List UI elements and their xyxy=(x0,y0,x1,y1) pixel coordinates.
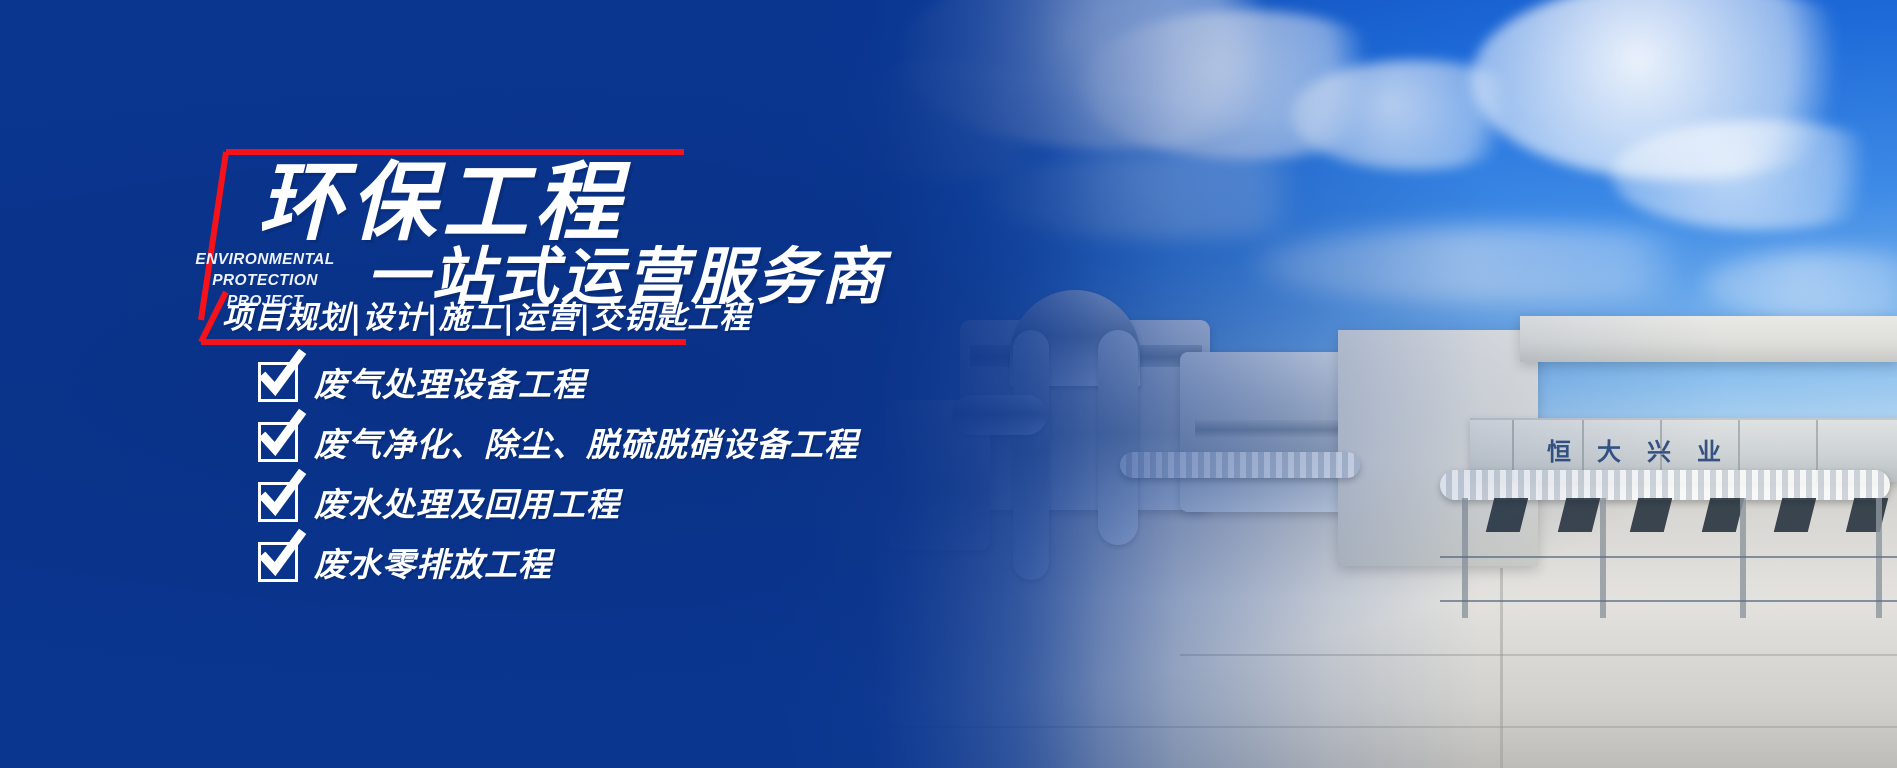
list-item: 废水零排放工程 xyxy=(258,538,858,586)
list-item: 废气处理设备工程 xyxy=(258,358,858,406)
checkmark-icon xyxy=(258,362,298,402)
list-item-label: 废水处理及回用工程 xyxy=(314,478,620,526)
checkmark-icon xyxy=(258,422,298,462)
checkmark-icon xyxy=(258,482,298,522)
english-tagline-line1: ENVIRONMENTAL PROTECTION xyxy=(195,251,334,289)
service-list-bar: 项目规划|设计|施工|运营|交钥匙工程 xyxy=(222,292,751,337)
list-item: 废水处理及回用工程 xyxy=(258,478,858,526)
checkmark-icon xyxy=(258,542,298,582)
feature-checklist: 废气处理设备工程 废气净化、除尘、脱硫脱硝设备工程 废水处理及回用工程 xyxy=(258,358,858,598)
banner-content: 环保工程 一站式运营服务商 ENVIRONMENTAL PROTECTION P… xyxy=(0,0,1897,768)
list-item-label: 废气处理设备工程 xyxy=(314,358,586,406)
list-item-label: 废水零排放工程 xyxy=(314,538,552,586)
list-item: 废气净化、除尘、脱硫脱硝设备工程 xyxy=(258,418,858,466)
promo-banner: 恒大兴业 xyxy=(0,0,1897,768)
list-item-label: 废气净化、除尘、脱硫脱硝设备工程 xyxy=(314,418,858,466)
page-title: 环保工程 xyxy=(258,160,626,246)
